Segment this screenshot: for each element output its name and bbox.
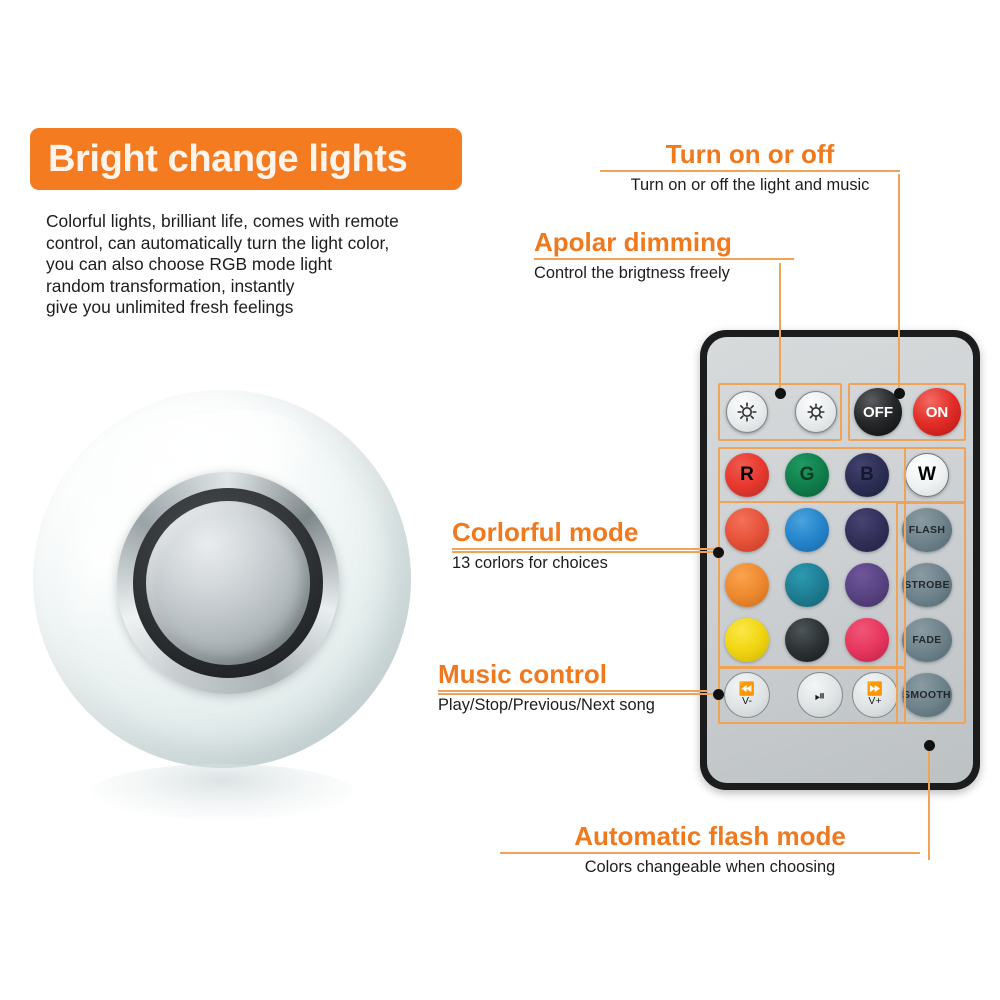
callout-underline: [600, 170, 900, 172]
callout-underline: [534, 258, 794, 260]
brightness-down-button[interactable]: [795, 391, 837, 433]
callout-turn-on-or-off: Turn on or off Turn on or off the light …: [600, 140, 900, 196]
callout-title: Turn on or off: [600, 140, 900, 168]
bulb-speaker-gap: [133, 488, 323, 678]
color-button-orange[interactable]: [725, 563, 769, 607]
leader-line-apolar-dimming: [779, 263, 781, 393]
sun-icon: [735, 400, 759, 424]
callout-automatic-flash-mode: Automatic flash mode Colors changeable w…: [500, 822, 920, 878]
leader-dot-corlorful-mode: [713, 547, 724, 558]
callout-subtitle: 13 corlors for choices: [452, 554, 722, 574]
bulb-globe: [33, 390, 411, 768]
leader-line-automatic-flash-mode: [928, 746, 930, 860]
callout-underline: [438, 690, 708, 692]
next-track-button[interactable]: ⏩ V+: [852, 672, 898, 718]
color-button-orange-red[interactable]: [725, 508, 769, 552]
color-button-green[interactable]: G: [785, 453, 829, 497]
callout-apolar-dimming: Apolar dimming Control the brigtness fre…: [534, 228, 794, 284]
bulb-chrome-ring: [117, 472, 339, 694]
color-button-indigo[interactable]: [845, 508, 889, 552]
leader-dot-automatic-flash-mode: [924, 740, 935, 751]
color-button-pink[interactable]: [845, 618, 889, 662]
callout-title: Music control: [438, 660, 708, 688]
bulb-product-image: [26, 382, 426, 802]
color-button-yellow[interactable]: [725, 618, 769, 662]
strobe-button[interactable]: STROBE: [902, 563, 952, 607]
flash-button[interactable]: FLASH: [902, 508, 952, 552]
callout-corlorful-mode: Corlorful mode 13 corlors for choices: [452, 518, 722, 574]
callout-underline: [500, 852, 920, 854]
previous-icon: ⏪: [739, 682, 755, 695]
color-button-purple[interactable]: [845, 563, 889, 607]
infographic-canvas: Bright change lights Colorful lights, br…: [0, 0, 1000, 1000]
callout-subtitle: Colors changeable when choosing: [500, 858, 920, 878]
color-button-sky-blue[interactable]: [785, 508, 829, 552]
page-title: Bright change lights: [48, 140, 407, 178]
callout-title: Apolar dimming: [534, 228, 794, 256]
color-button-red[interactable]: R: [725, 453, 769, 497]
leader-dot-music-control: [713, 689, 724, 700]
volume-up-label: V+: [868, 696, 881, 708]
headline-banner: Bright change lights: [30, 128, 462, 190]
leader-dot-apolar-dimming: [775, 388, 786, 399]
intro-paragraph: Colorful lights, brilliant life, comes w…: [46, 211, 466, 319]
bulb-speaker-dome: [146, 501, 310, 665]
callout-subtitle: Turn on or off the light and music: [600, 176, 900, 196]
previous-track-button[interactable]: ⏪ V-: [724, 672, 770, 718]
leader-dot-turn-on-or-off: [894, 388, 905, 399]
play-pause-icon: ⏯: [815, 689, 825, 702]
sun-icon: [804, 400, 828, 424]
play-pause-button[interactable]: ⏯: [797, 672, 843, 718]
leader-line-music-control: [438, 693, 718, 695]
leader-line-corlorful-mode: [452, 551, 718, 553]
callout-title: Automatic flash mode: [500, 822, 920, 850]
color-button-blue[interactable]: B: [845, 453, 889, 497]
bulb-reflection: [92, 764, 354, 820]
color-button-teal[interactable]: [785, 563, 829, 607]
fade-button[interactable]: FADE: [902, 618, 952, 662]
color-button-dark[interactable]: [785, 618, 829, 662]
leader-line-turn-on-or-off: [898, 174, 900, 393]
volume-down-label: V-: [742, 696, 752, 708]
on-button[interactable]: ON: [913, 388, 961, 436]
callout-music-control: Music control Play/Stop/Previous/Next so…: [438, 660, 708, 716]
callout-subtitle: Play/Stop/Previous/Next song: [438, 696, 708, 716]
smooth-button[interactable]: SMOOTH: [902, 673, 952, 717]
callout-underline: [452, 548, 722, 550]
remote-control: OFF ON R G B W FLASH STROBE FADE SMOOTH …: [700, 330, 980, 790]
callout-title: Corlorful mode: [452, 518, 722, 546]
next-icon: ⏩: [867, 682, 883, 695]
callout-subtitle: Control the brigtness freely: [534, 264, 794, 284]
brightness-up-button[interactable]: [726, 391, 768, 433]
color-button-white[interactable]: W: [905, 453, 949, 497]
